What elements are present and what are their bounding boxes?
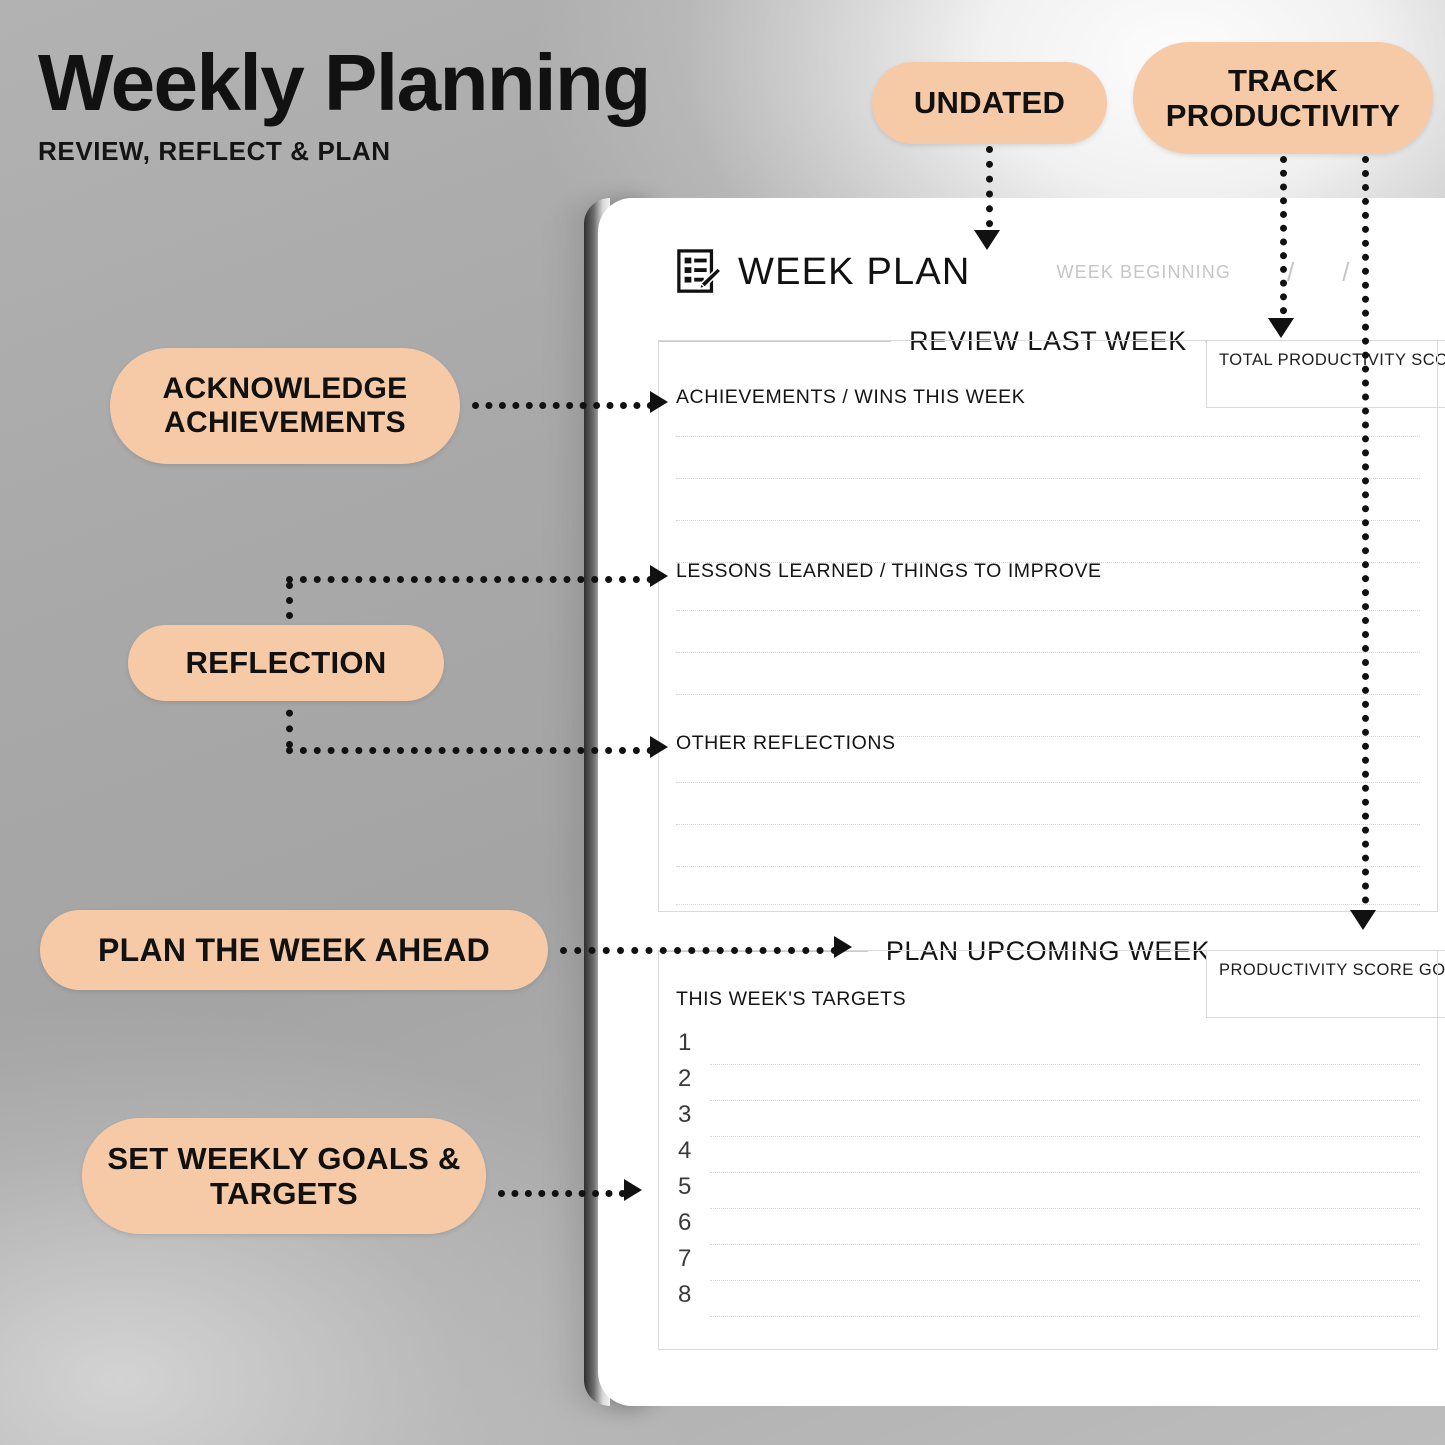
connector-line [472,402,654,409]
callout-label: ACKNOWLEDGE ACHIEVEMENTS [132,372,438,440]
target-number: 5 [678,1173,702,1201]
field-heading-achievements: ACHIEVEMENTS / WINS THIS WEEK [676,386,1025,409]
callout-label: PLAN THE WEEK AHEAD [98,932,490,968]
callout-label: SET WEEKLY GOALS & TARGETS [104,1141,464,1212]
rule-line[interactable] [676,904,1420,905]
field-heading-other-reflections: OTHER REFLECTIONS [676,732,896,755]
callout-pill-acknowledge-achievements[interactable]: ACKNOWLEDGE ACHIEVEMENTS [110,348,460,464]
callout-label: TRACK PRODUCTIVITY [1155,63,1411,134]
connector-arrow-right [650,391,668,413]
page-subtitle: REVIEW, REFLECT & PLAN [38,136,738,167]
field-heading-lessons: LESSONS LEARNED / THINGS TO IMPROVE [676,560,1102,583]
rule-line[interactable] [676,652,1420,653]
targets-heading: THIS WEEK'S TARGETS [676,988,906,1011]
target-number: 3 [678,1101,702,1129]
target-number: 7 [678,1245,702,1273]
rule-line[interactable] [676,520,1420,521]
connector-line [1280,156,1287,328]
connector-arrow-right [834,936,852,958]
clipboard-pencil-icon [676,248,722,296]
notebook-page: WEEK PLAN WEEK BEGINNING / / REVIEW LAST… [598,198,1445,1406]
rule-line[interactable] [676,478,1420,479]
target-number: 1 [678,1029,702,1057]
callout-label: REFLECTION [185,645,386,680]
rule-line[interactable] [676,610,1420,611]
target-number: 2 [678,1065,702,1093]
rule-line[interactable] [676,824,1420,825]
date-slot-1[interactable]: / [1287,257,1294,288]
headline-block: Weekly Planning REVIEW, REFLECT & PLAN [38,42,738,167]
week-plan-title: WEEK PLAN [738,251,971,294]
callout-pill-reflection[interactable]: REFLECTION [128,625,444,701]
review-panel [658,340,1438,912]
page-header: WEEK PLAN WEEK BEGINNING / / [676,248,1416,296]
callout-label: UNDATED [914,85,1065,120]
connector-line [560,947,838,954]
connector-arrow-right [624,1179,642,1201]
callout-pill-plan-the-week-ahead[interactable]: PLAN THE WEEK AHEAD [40,910,548,990]
connector-line [498,1190,626,1197]
week-beginning-label: WEEK BEGINNING [1057,262,1231,283]
rule-line[interactable] [676,866,1420,867]
connector-line [986,146,993,242]
target-line[interactable] [710,1064,1420,1065]
target-number: 4 [678,1137,702,1165]
notebook-mockup: WEEK PLAN WEEK BEGINNING / / REVIEW LAST… [578,198,1445,1410]
page-title: Weekly Planning [38,42,738,124]
connector-line [1362,156,1369,918]
connector-arrow-right [650,565,668,587]
connector-line [286,747,654,754]
target-number: 8 [678,1281,702,1309]
rule-line[interactable] [676,782,1420,783]
connector-arrow-right [650,736,668,758]
target-line[interactable] [710,1280,1420,1281]
target-line[interactable] [710,1100,1420,1101]
poster-canvas: Weekly Planning REVIEW, REFLECT & PLAN [0,0,1445,1445]
connector-arrow-down [1268,318,1294,338]
target-number: 6 [678,1209,702,1237]
connector-arrow-down [1350,910,1376,930]
target-line[interactable] [710,1316,1420,1317]
connector-line [286,576,654,583]
callout-pill-undated[interactable]: UNDATED [872,62,1107,144]
target-line[interactable] [710,1244,1420,1245]
callout-pill-set-weekly-goals[interactable]: SET WEEKLY GOALS & TARGETS [82,1118,486,1234]
target-line[interactable] [710,1208,1420,1209]
rule-line[interactable] [676,436,1420,437]
target-line[interactable] [710,1172,1420,1173]
rule-line[interactable] [676,694,1420,695]
callout-pill-track-productivity[interactable]: TRACK PRODUCTIVITY [1133,42,1433,154]
connector-line [286,694,293,748]
connector-arrow-down [974,230,1000,250]
target-line[interactable] [710,1136,1420,1137]
date-slot-2[interactable]: / [1342,257,1349,288]
